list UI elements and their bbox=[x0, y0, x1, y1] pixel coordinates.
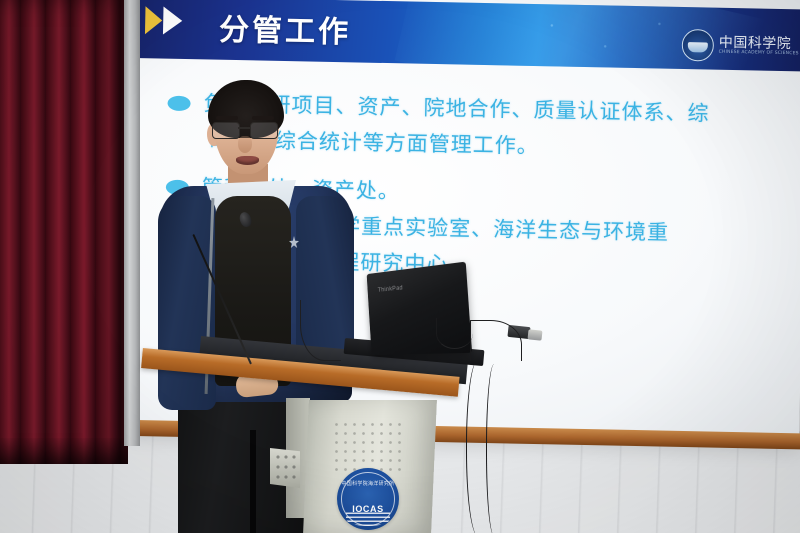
chevron-arrows-icon bbox=[145, 6, 183, 35]
metal-pillar-trim bbox=[124, 0, 140, 446]
curtain-hem bbox=[0, 438, 128, 464]
podium-shelf-perforations bbox=[274, 452, 296, 482]
presentation-photo-scene: 分管工作 中国科学院 CHINESE ACADEMY OF SCIENCES 负… bbox=[0, 0, 800, 533]
speaker-glasses bbox=[212, 122, 282, 137]
slide-title: 分管工作 bbox=[219, 5, 352, 52]
glasses-lens-left bbox=[212, 122, 240, 139]
cas-logo: 中国科学院 CHINESE ACADEMY OF SCIENCES bbox=[681, 21, 799, 71]
desk-cable-3 bbox=[436, 318, 473, 349]
glasses-bridge bbox=[238, 127, 250, 129]
cas-seal-icon bbox=[681, 29, 714, 62]
red-stage-curtain bbox=[0, 0, 128, 464]
podium-perforation-pattern bbox=[332, 420, 404, 474]
laptop-brand-mark: ThinkPad bbox=[378, 285, 404, 293]
podium-iocas-emblem: 中国科学院海洋研究所 IOCAS bbox=[337, 468, 399, 530]
cas-logo-label-en: CHINESE ACADEMY OF SCIENCES bbox=[719, 51, 799, 57]
speaker-eyebrow-left bbox=[216, 116, 238, 120]
chevron-white-icon bbox=[163, 7, 183, 35]
cas-logo-label: 中国科学院 CHINESE ACADEMY OF SCIENCES bbox=[719, 36, 799, 57]
speaker-nose bbox=[238, 136, 252, 153]
speaker-eyebrow-right bbox=[252, 116, 274, 120]
bullet-icon bbox=[167, 96, 190, 111]
floor-cable-2 bbox=[486, 364, 503, 533]
cable-connector-light bbox=[528, 329, 543, 340]
podium-emblem-wave-icon bbox=[346, 512, 390, 526]
chevron-yellow-icon bbox=[145, 6, 163, 34]
glasses-lens-right bbox=[250, 122, 278, 139]
podium-emblem-arc-text: 中国科学院海洋研究所 bbox=[337, 480, 399, 487]
speaker-trouser-seam bbox=[250, 430, 256, 533]
speaker-mouth bbox=[236, 156, 259, 165]
